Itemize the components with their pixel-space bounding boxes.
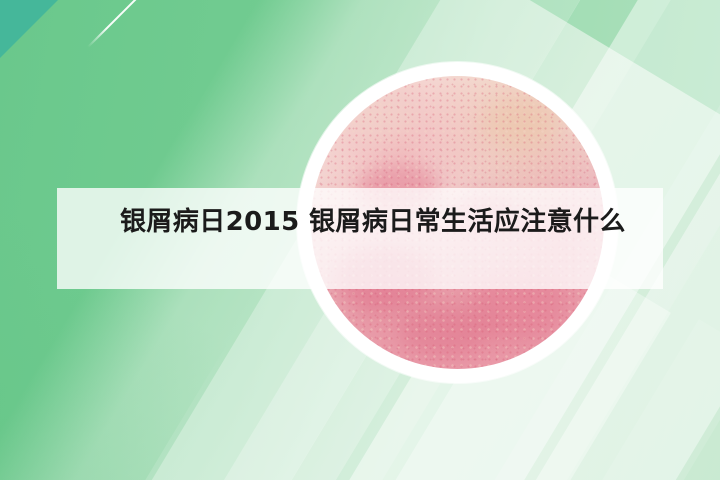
caption-banner: 银屑病日2015 银屑病日常生活应注意什么 xyxy=(57,188,663,289)
image-canvas: 银屑病日2015 银屑病日常生活应注意什么 xyxy=(0,0,720,480)
caption-title: 银屑病日2015 银屑病日常生活应注意什么 xyxy=(120,202,640,242)
teal-corner-triangle xyxy=(0,0,58,58)
